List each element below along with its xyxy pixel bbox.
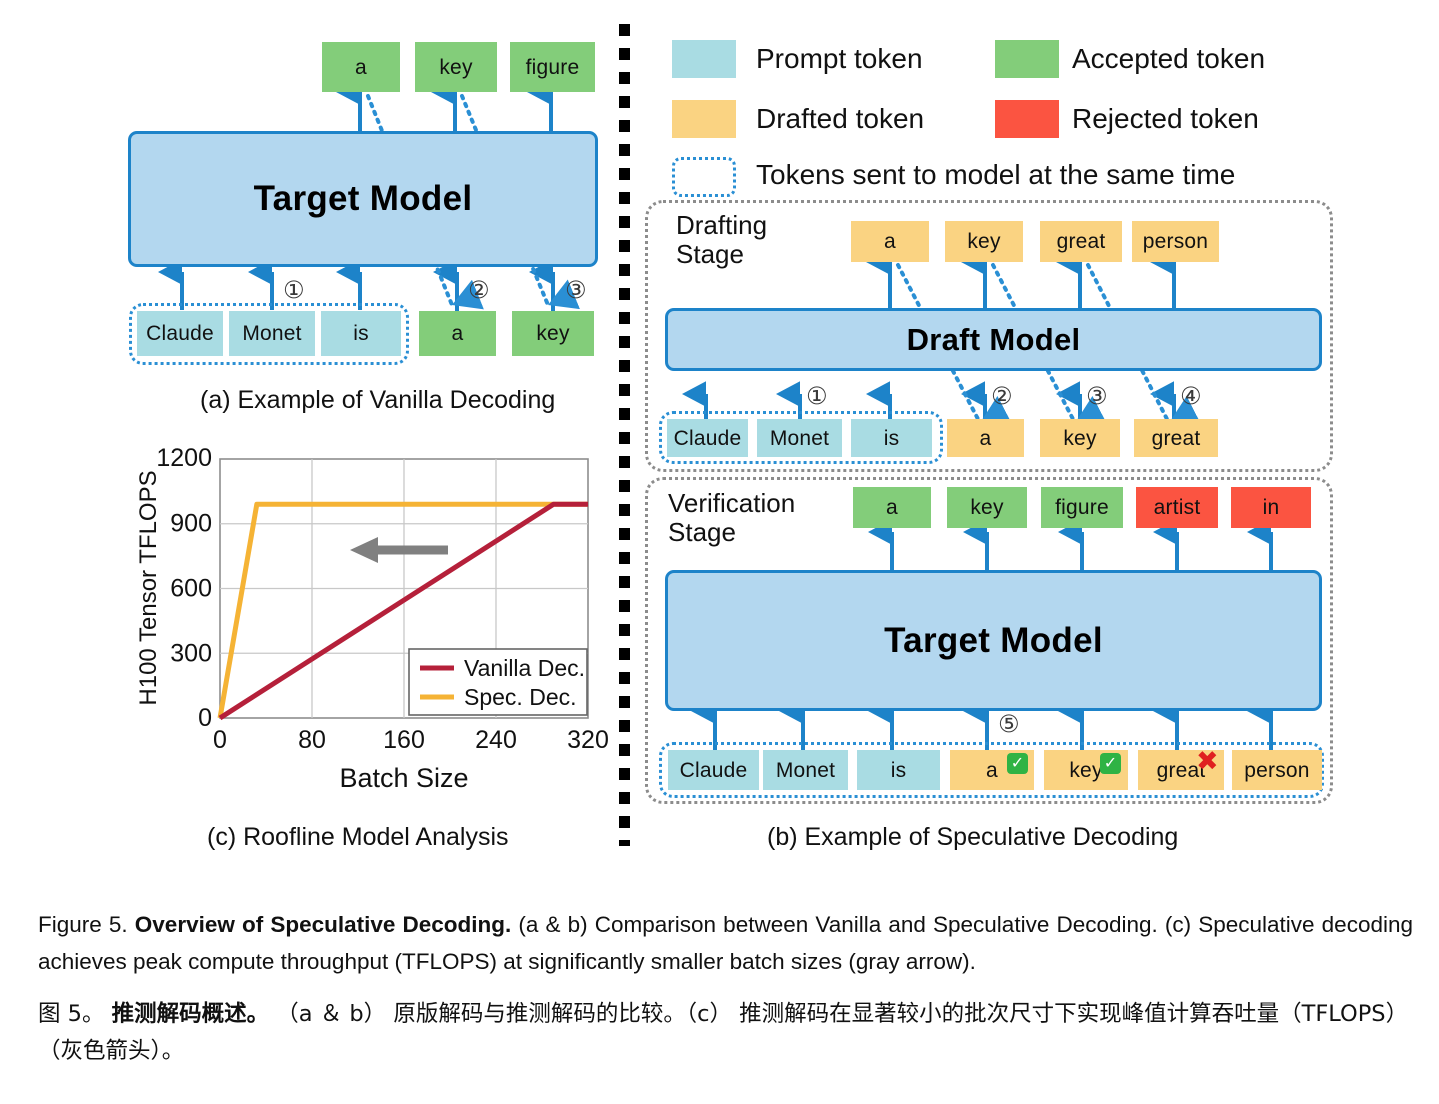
x-tick-160: 160 (383, 726, 425, 754)
token-label: a (986, 760, 998, 781)
x-axis-label: Batch Size (339, 763, 468, 793)
figure-label-zh: 图 5。 (38, 1001, 104, 1027)
panel-a-input-token: key (512, 311, 594, 356)
legend-swatch-accepted (995, 40, 1059, 78)
accepted-check-icon: ✓ (1100, 753, 1121, 774)
verification-input-token: person (1232, 750, 1322, 790)
y-tick-300: 300 (170, 640, 212, 668)
panel-a-output-token: key (415, 42, 497, 92)
verification-input-token: is (857, 750, 940, 790)
token-label: key (970, 497, 1003, 518)
token-label: Claude (674, 428, 742, 449)
token-label: Monet (242, 323, 301, 344)
token-label: key (536, 323, 569, 344)
drafting-step-1: ① (806, 385, 828, 409)
verification-output-token: in (1231, 487, 1311, 528)
panel-a-output-token: figure (510, 42, 595, 92)
drafting-step-3: ③ (1086, 385, 1108, 409)
verification-input-token: Monet (763, 750, 848, 790)
panel-b-caption: (b) Example of Speculative Decoding (767, 823, 1178, 852)
drafting-input-token: Monet (757, 419, 842, 457)
token-label: a (884, 231, 896, 252)
legend-swatch-prompt (672, 40, 736, 78)
verification-output-token: key (947, 487, 1027, 528)
drafting-input-token: Claude (667, 419, 748, 457)
x-tick-240: 240 (475, 726, 517, 754)
drafting-input-token: a (947, 419, 1024, 457)
legend-label-accepted: Accepted token (1072, 45, 1265, 73)
token-label: key (439, 57, 472, 78)
panel-a-step-2: ② (468, 279, 490, 303)
figure-title-zh: 推测解码概述。 (112, 1001, 270, 1027)
token-label: is (884, 428, 900, 449)
accepted-check-icon: ✓ (1007, 753, 1028, 774)
panel-a-step-3: ③ (565, 279, 587, 303)
legend-label-token-group: Tokens sent to model at the same time (756, 161, 1235, 189)
token-label: is (891, 760, 907, 781)
token-label: artist (1154, 497, 1201, 518)
panel-a-caption: (a) Example of Vanilla Decoding (200, 386, 555, 415)
verification-input-token: Claude (668, 750, 759, 790)
legend-label-rejected: Rejected token (1072, 105, 1259, 133)
panel-a-input-token: is (321, 311, 401, 356)
y-tick-600: 600 (170, 575, 212, 603)
y-tick-1200: 1200 (156, 444, 212, 472)
x-tick-80: 80 (298, 726, 326, 754)
drafting-output-token: great (1040, 221, 1122, 262)
legend-label-spec: Spec. Dec. (464, 684, 577, 710)
token-label: figure (1055, 497, 1109, 518)
y-axis-label: H100 Tensor TFLOPS (135, 470, 162, 705)
panel-a-output-token: a (322, 42, 400, 92)
verification-step-5: ⑤ (998, 713, 1020, 737)
token-label: in (1263, 497, 1280, 518)
y-tick-0: 0 (198, 704, 212, 732)
model-label: Draft Model (907, 322, 1081, 358)
figure-panel: a key figure Target Model ① ② ③ Claude M… (0, 0, 1439, 880)
figure-title-en: Overview of Speculative Decoding. (135, 912, 511, 937)
figure-caption-en: Figure 5. Overview of Speculative Decodi… (38, 906, 1413, 980)
panel-a-target-model: Target Model (128, 131, 598, 267)
token-label: key (1063, 428, 1096, 449)
chart-legend: Vanilla Dec. Spec. Dec. (409, 649, 587, 715)
drafting-output-token: a (851, 221, 929, 262)
verification-output-token: figure (1041, 487, 1123, 528)
token-label: Claude (680, 760, 748, 781)
drafting-input-token: great (1134, 419, 1218, 457)
figure-caption-zh: 图 5。 推测解码概述。 （a ＆ b） 原版解码与推测解码的比较。（c） 推测… (38, 996, 1413, 1070)
token-label: figure (526, 57, 580, 78)
model-label: Target Model (254, 179, 473, 219)
y-tick-900: 900 (170, 510, 212, 538)
legend-swatch-token-group (672, 157, 736, 197)
token-label: key (1069, 760, 1102, 781)
model-label: Target Model (884, 621, 1103, 661)
x-tick-0: 0 (213, 726, 227, 754)
roofline-chart: 1200 900 600 300 0 0 80 160 240 320 Batc… (128, 440, 628, 840)
token-label: person (1244, 760, 1309, 781)
drafting-output-token: key (945, 221, 1023, 262)
drafting-output-token: person (1132, 221, 1219, 262)
token-label: a (452, 323, 464, 344)
token-label: person (1143, 231, 1208, 252)
verification-output-token: artist (1136, 487, 1218, 528)
legend-swatch-rejected (995, 100, 1059, 138)
token-label: great (1057, 231, 1106, 252)
panel-c-caption: (c) Roofline Model Analysis (207, 823, 509, 852)
token-label: key (967, 231, 1000, 252)
verification-target-model: Target Model (665, 570, 1322, 711)
verification-output-token: a (853, 487, 931, 528)
token-label: Monet (776, 760, 835, 781)
panel-a-step-1: ① (283, 279, 305, 303)
token-label: Claude (146, 323, 214, 344)
legend-label-vanilla: Vanilla Dec. (464, 655, 585, 681)
panel-a-input-token: a (419, 311, 496, 356)
draft-model-box: Draft Model (665, 308, 1322, 371)
drafting-input-token: is (851, 419, 932, 457)
x-tick-320: 320 (567, 726, 609, 754)
token-label: great (1152, 428, 1201, 449)
token-label: a (980, 428, 992, 449)
token-label: Monet (770, 428, 829, 449)
token-label: a (886, 497, 898, 518)
legend-swatch-drafted (672, 100, 736, 138)
panel-a-input-token: Claude (137, 311, 223, 356)
rejected-cross-icon: ✖ (1196, 748, 1219, 775)
drafting-step-4: ④ (1180, 385, 1202, 409)
drafting-step-2: ② (991, 385, 1013, 409)
legend-label-drafted: Drafted token (756, 105, 924, 133)
figure-label: Figure 5. (38, 912, 128, 937)
token-label: is (353, 323, 369, 344)
drafting-input-token: key (1040, 419, 1120, 457)
panel-a-input-token: Monet (229, 311, 315, 356)
token-label: a (355, 57, 367, 78)
legend-label-prompt: Prompt token (756, 45, 923, 73)
